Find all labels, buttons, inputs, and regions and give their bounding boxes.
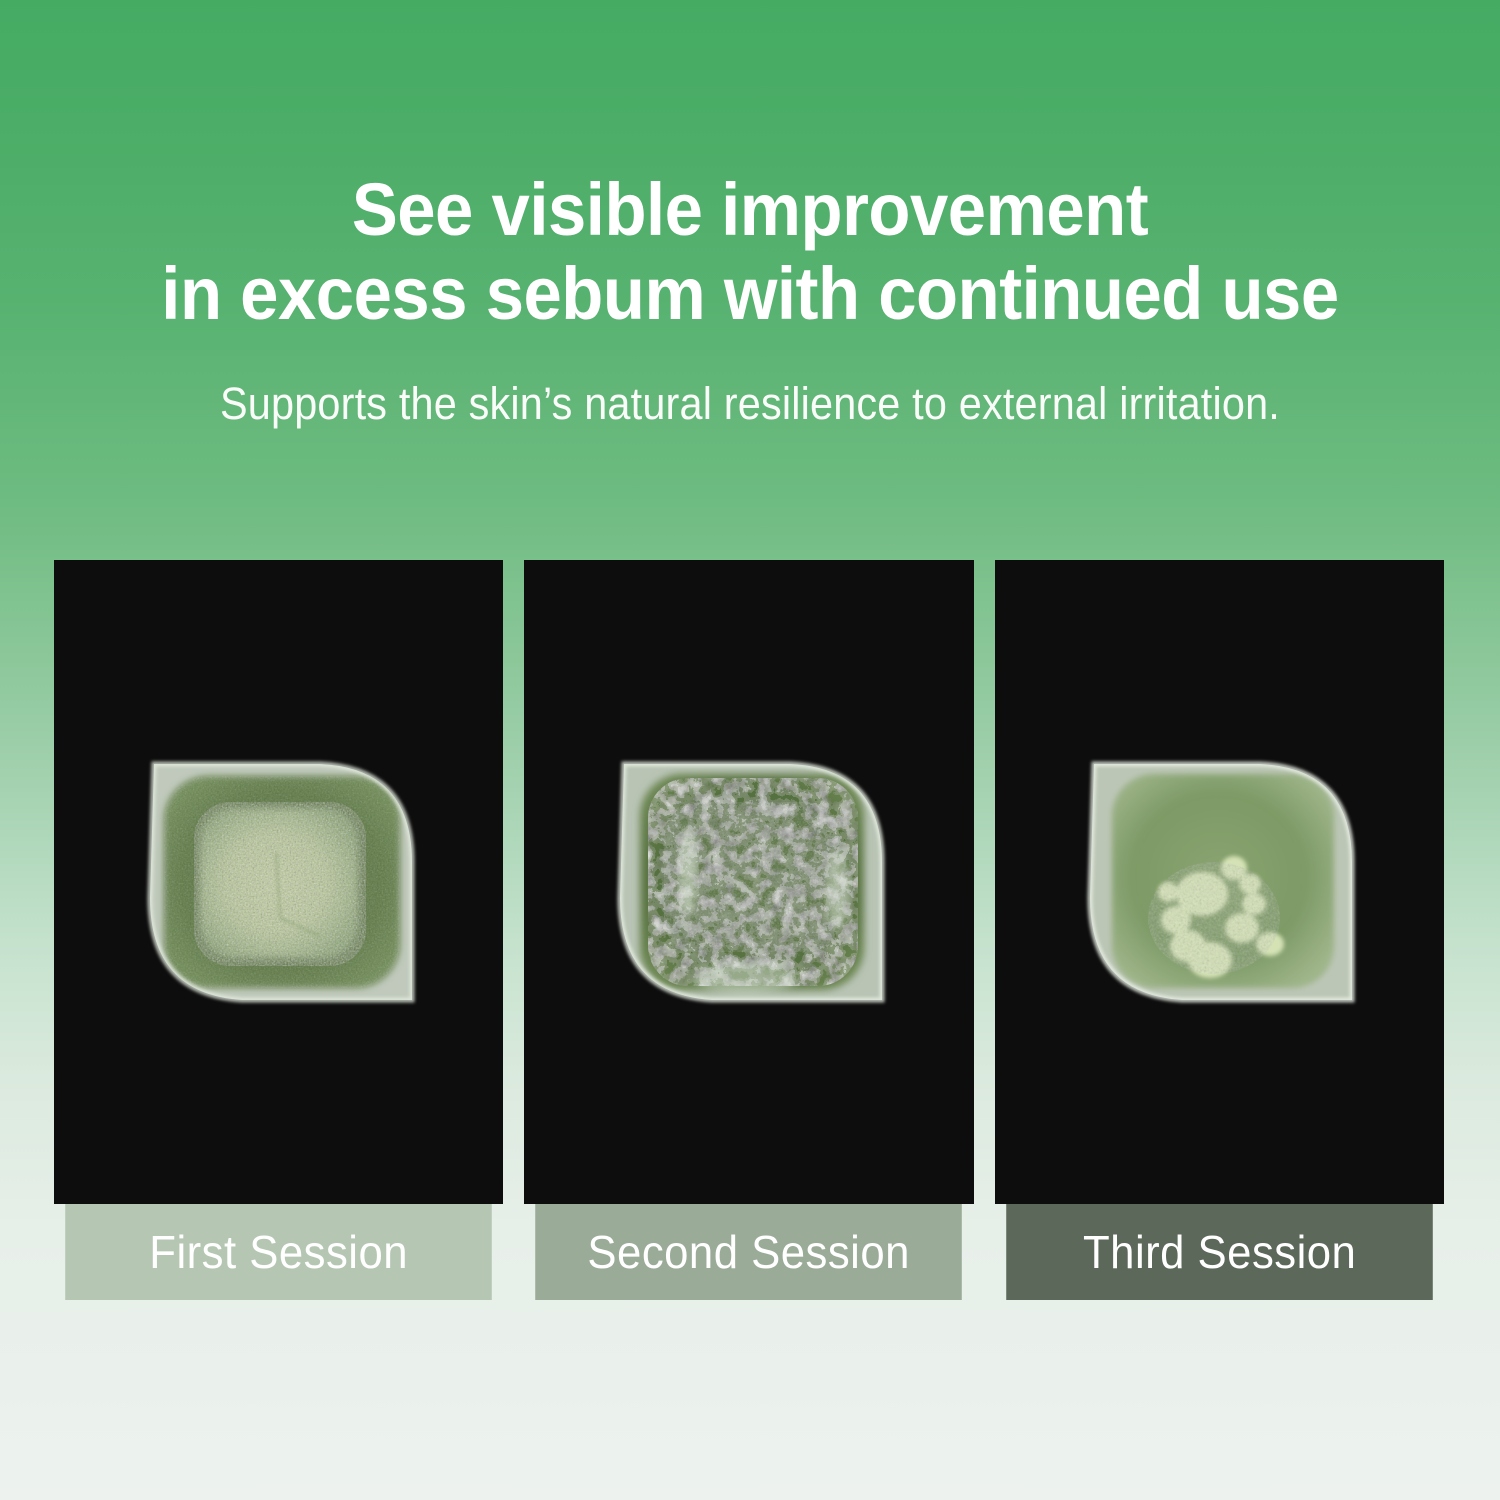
sebum-patch-second xyxy=(594,722,904,1042)
sebum-patch-svg-first xyxy=(124,722,434,1042)
caption-third-session: Third Session xyxy=(1006,1204,1433,1300)
headline-line-2: in excess sebum with continued use xyxy=(53,252,1448,336)
session-panel-third: Third Session xyxy=(995,560,1444,1300)
sebum-patch-first xyxy=(124,722,434,1042)
sebum-patch-svg-second xyxy=(594,722,904,1042)
caption-second-session: Second Session xyxy=(536,1204,963,1300)
sample-stage-first xyxy=(54,560,503,1204)
session-comparison-row: First Session xyxy=(54,560,1444,1300)
sebum-patch-third xyxy=(1064,722,1374,1042)
session-panel-first: First Session xyxy=(54,560,503,1300)
caption-first-session: First Session xyxy=(65,1204,492,1300)
page-title: See visible improvement in excess sebum … xyxy=(53,168,1448,336)
sebum-patch-svg-third xyxy=(1064,722,1374,1042)
sample-stage-second xyxy=(524,560,973,1204)
headline-line-1: See visible improvement xyxy=(53,168,1448,252)
page-subtitle: Supports the skin’s natural resilience t… xyxy=(60,378,1440,430)
session-panel-second: Second Session xyxy=(524,560,973,1300)
header: See visible improvement in excess sebum … xyxy=(0,0,1500,430)
sample-stage-third xyxy=(995,560,1444,1204)
